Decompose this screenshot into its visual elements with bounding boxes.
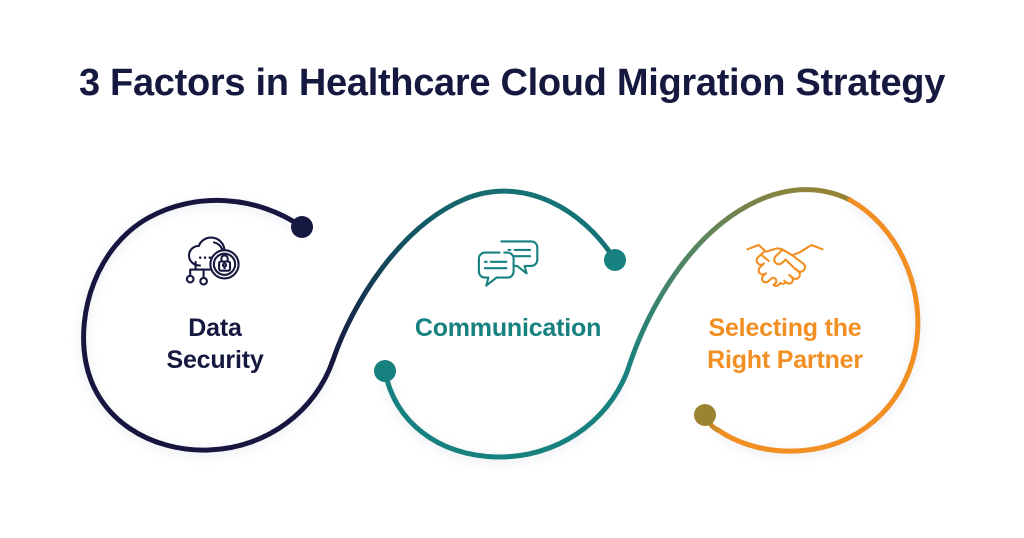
factor-data-security: Data Security — [95, 232, 335, 376]
factor-label-line2: Security — [166, 346, 263, 374]
cloud-lock-icon — [95, 232, 335, 298]
loop-path-communication — [385, 371, 627, 457]
factor-selecting-the-right-partner: Selecting the Right Partner — [665, 232, 905, 376]
factor-label-data-security: Data Security — [95, 312, 335, 376]
dot-teal-loop-start — [374, 360, 396, 382]
dot-olive-loop-start — [694, 404, 716, 426]
factor-label-line1: Communication — [415, 314, 601, 342]
factor-label-line2: Right Partner — [707, 346, 863, 374]
factor-label-communication: Communication — [388, 312, 628, 344]
factor-label-line1: Data — [188, 314, 241, 342]
handshake-icon — [665, 232, 905, 298]
loop-path-olive-tail — [705, 415, 718, 430]
infographic-canvas: 3 Factors in Healthcare Cloud Migration … — [0, 0, 1024, 538]
speech-bubbles-icon — [388, 232, 628, 298]
factor-label-line1: Selecting the — [709, 314, 862, 342]
factor-communication: Communication — [388, 232, 628, 344]
factor-label-selecting-the-right-partner: Selecting the Right Partner — [665, 312, 905, 376]
page-title: 3 Factors in Healthcare Cloud Migration … — [0, 62, 1024, 105]
